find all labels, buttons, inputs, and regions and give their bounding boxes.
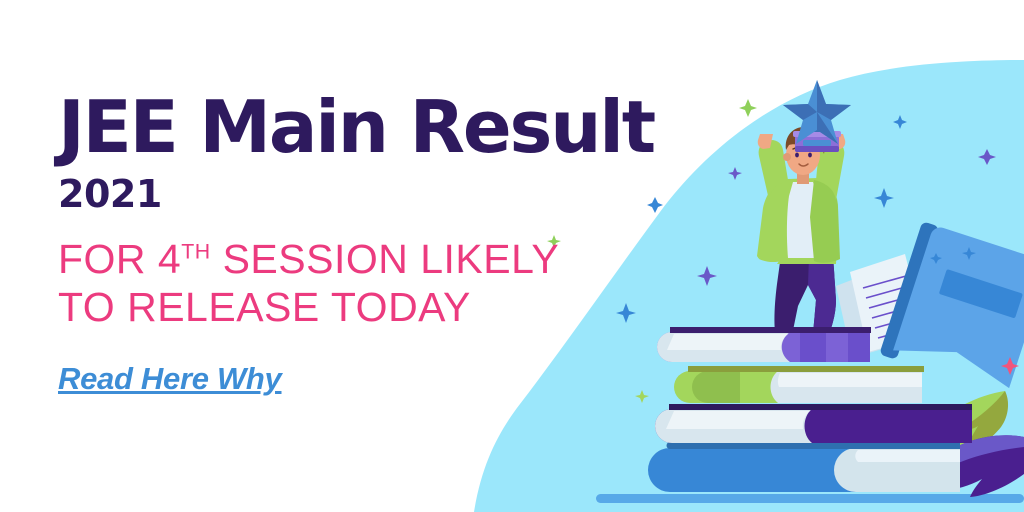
book-blue [648,442,960,492]
subhead-line1-rest: SESSION LIKELY [211,236,560,282]
subheadline: FOR 4TH SESSION LIKELYTO RELEASE TODAY [58,235,698,332]
year-label: 2021 [58,175,698,213]
eye-right [808,153,812,158]
book-purple-edge [670,327,871,333]
jee-result-banner: JEE Main Result 2021 FOR 4TH SESSION LIK… [0,0,1024,512]
trophy-base-shade [795,146,839,152]
sparkle-green-1 [739,99,757,117]
ear-left [783,153,791,161]
book-green-cover-shade [692,371,740,403]
subhead-prefix: FOR 4 [58,236,181,282]
book-purple-cover-shade [800,332,826,362]
book-green [674,366,924,403]
book-green-edge [688,366,924,372]
text-block: JEE Main Result 2021 FOR 4TH SESSION LIK… [58,92,698,397]
book-blue-pages-top [855,450,960,462]
eye-left [795,153,799,158]
page-title: JEE Main Result [58,92,698,163]
subhead-ordinal: TH [181,239,210,263]
trophy-plaque [803,140,831,146]
book-purple-cover-shade2 [848,332,870,362]
book-blue-edge [667,442,961,449]
subhead-line2: TO RELEASE TODAY [58,284,471,330]
book-dark-purple [655,404,972,443]
book-dark-purple-pages-hi [666,411,810,429]
book-green-pages-hi [778,373,922,387]
ground-shadow [596,494,1024,503]
read-here-why-link[interactable]: Read Here Why [58,361,282,397]
book-dark-purple-edge [669,404,972,410]
